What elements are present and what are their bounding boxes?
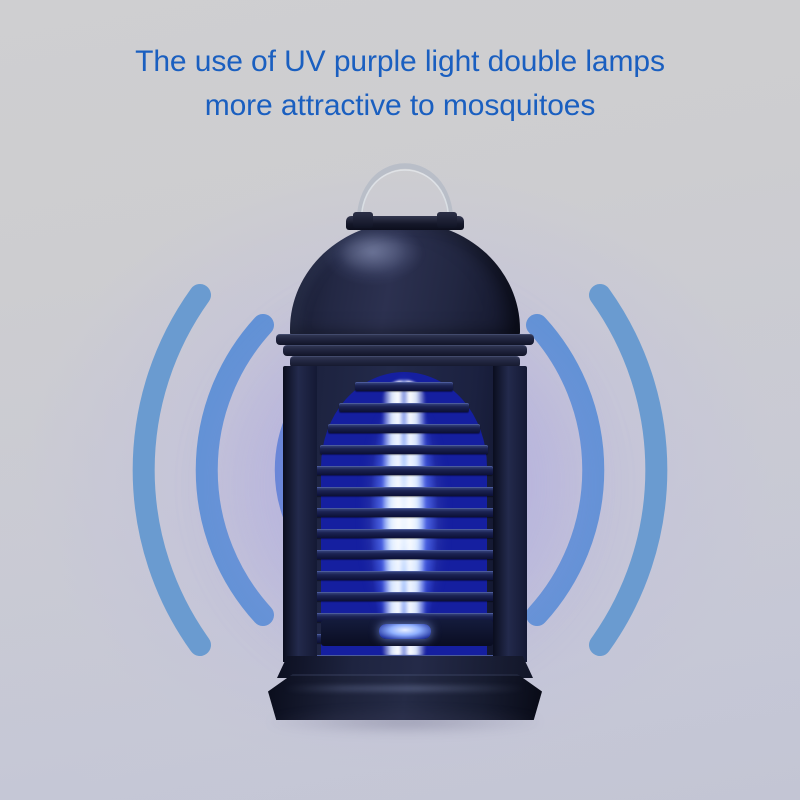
lamp-body	[283, 366, 527, 662]
product-banner: The use of UV purple light double lamps …	[0, 0, 800, 800]
headline-line-1: The use of UV purple light double lamps	[0, 40, 800, 84]
page-title: The use of UV purple light double lamps …	[0, 40, 800, 127]
side-pillar-right	[493, 366, 527, 662]
side-pillar-left	[283, 366, 317, 662]
ridged-collar	[276, 334, 534, 368]
indicator-light	[379, 624, 431, 639]
mount-tab-right	[437, 212, 457, 228]
collar-ridge	[283, 345, 527, 356]
uv-mosquito-killer-lamp	[250, 150, 560, 760]
dome-cap	[290, 222, 520, 340]
mount-tab-left	[353, 212, 373, 228]
uv-tube-window	[321, 372, 487, 662]
contact-shadow	[270, 710, 540, 734]
headline-line-2: more attractive to mosquitoes	[0, 84, 800, 128]
collar-ridge	[276, 334, 534, 345]
